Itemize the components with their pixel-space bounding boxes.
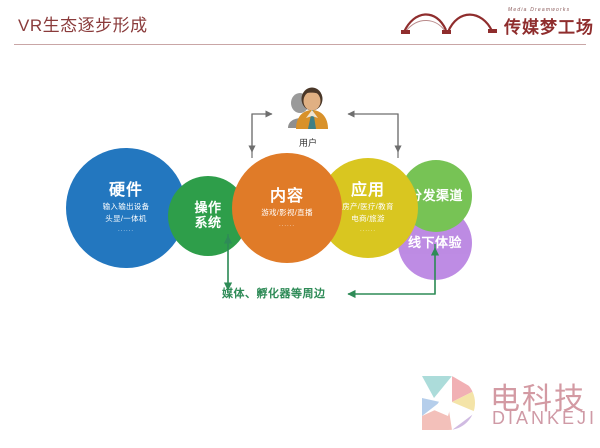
diankeji-mark-icon — [418, 372, 480, 434]
node-application-sub2: 电商/旅游 — [351, 215, 385, 224]
ecosystem-diagram: 用户 硬件 输入输出设备 头显/一体机 ...... 操作 系统 内容 游戏/影… — [0, 48, 600, 368]
node-hardware-dots: ...... — [118, 227, 134, 234]
node-content-sub1: 游戏/影视/直播 — [261, 209, 313, 218]
footer-logo-en: DIANKEJI — [492, 408, 597, 429]
node-os-sub1: 系统 — [194, 216, 221, 231]
brand-name: 传媒梦工场 — [504, 13, 594, 38]
node-hardware-sub1: 输入输出设备 — [103, 203, 150, 212]
node-content-dots: ...... — [279, 222, 295, 229]
user-node: 用户 — [278, 84, 338, 149]
brand-logo: Media Dreamworks 传媒梦工场 — [396, 4, 586, 42]
brand-arc-icon — [396, 6, 501, 36]
page-title: VR生态逐步形成 — [18, 11, 148, 36]
node-os-title: 操作 — [194, 201, 221, 216]
node-application-dots: ...... — [360, 227, 376, 234]
node-offline-experience-title: 线下体验 — [408, 236, 462, 251]
slide-header: VR生态逐步形成 Media Dreamworks 传媒梦工场 — [0, 0, 600, 48]
node-hardware-title: 硬件 — [109, 182, 143, 200]
node-application-sub1: 房产/医疗/教育 — [342, 203, 394, 212]
header-divider — [14, 44, 586, 45]
node-content[interactable]: 内容 游戏/影视/直播 ...... — [232, 153, 342, 263]
node-hardware-sub2: 头显/一体机 — [105, 215, 146, 224]
user-label: 用户 — [278, 136, 338, 149]
periphery-label: 媒体、孵化器等周边 — [222, 285, 326, 301]
node-content-title: 内容 — [270, 188, 304, 206]
footer-logo: 电科技 DIANKEJI — [418, 372, 594, 438]
user-avatar-icon — [282, 84, 334, 130]
node-application-title: 应用 — [351, 182, 385, 200]
